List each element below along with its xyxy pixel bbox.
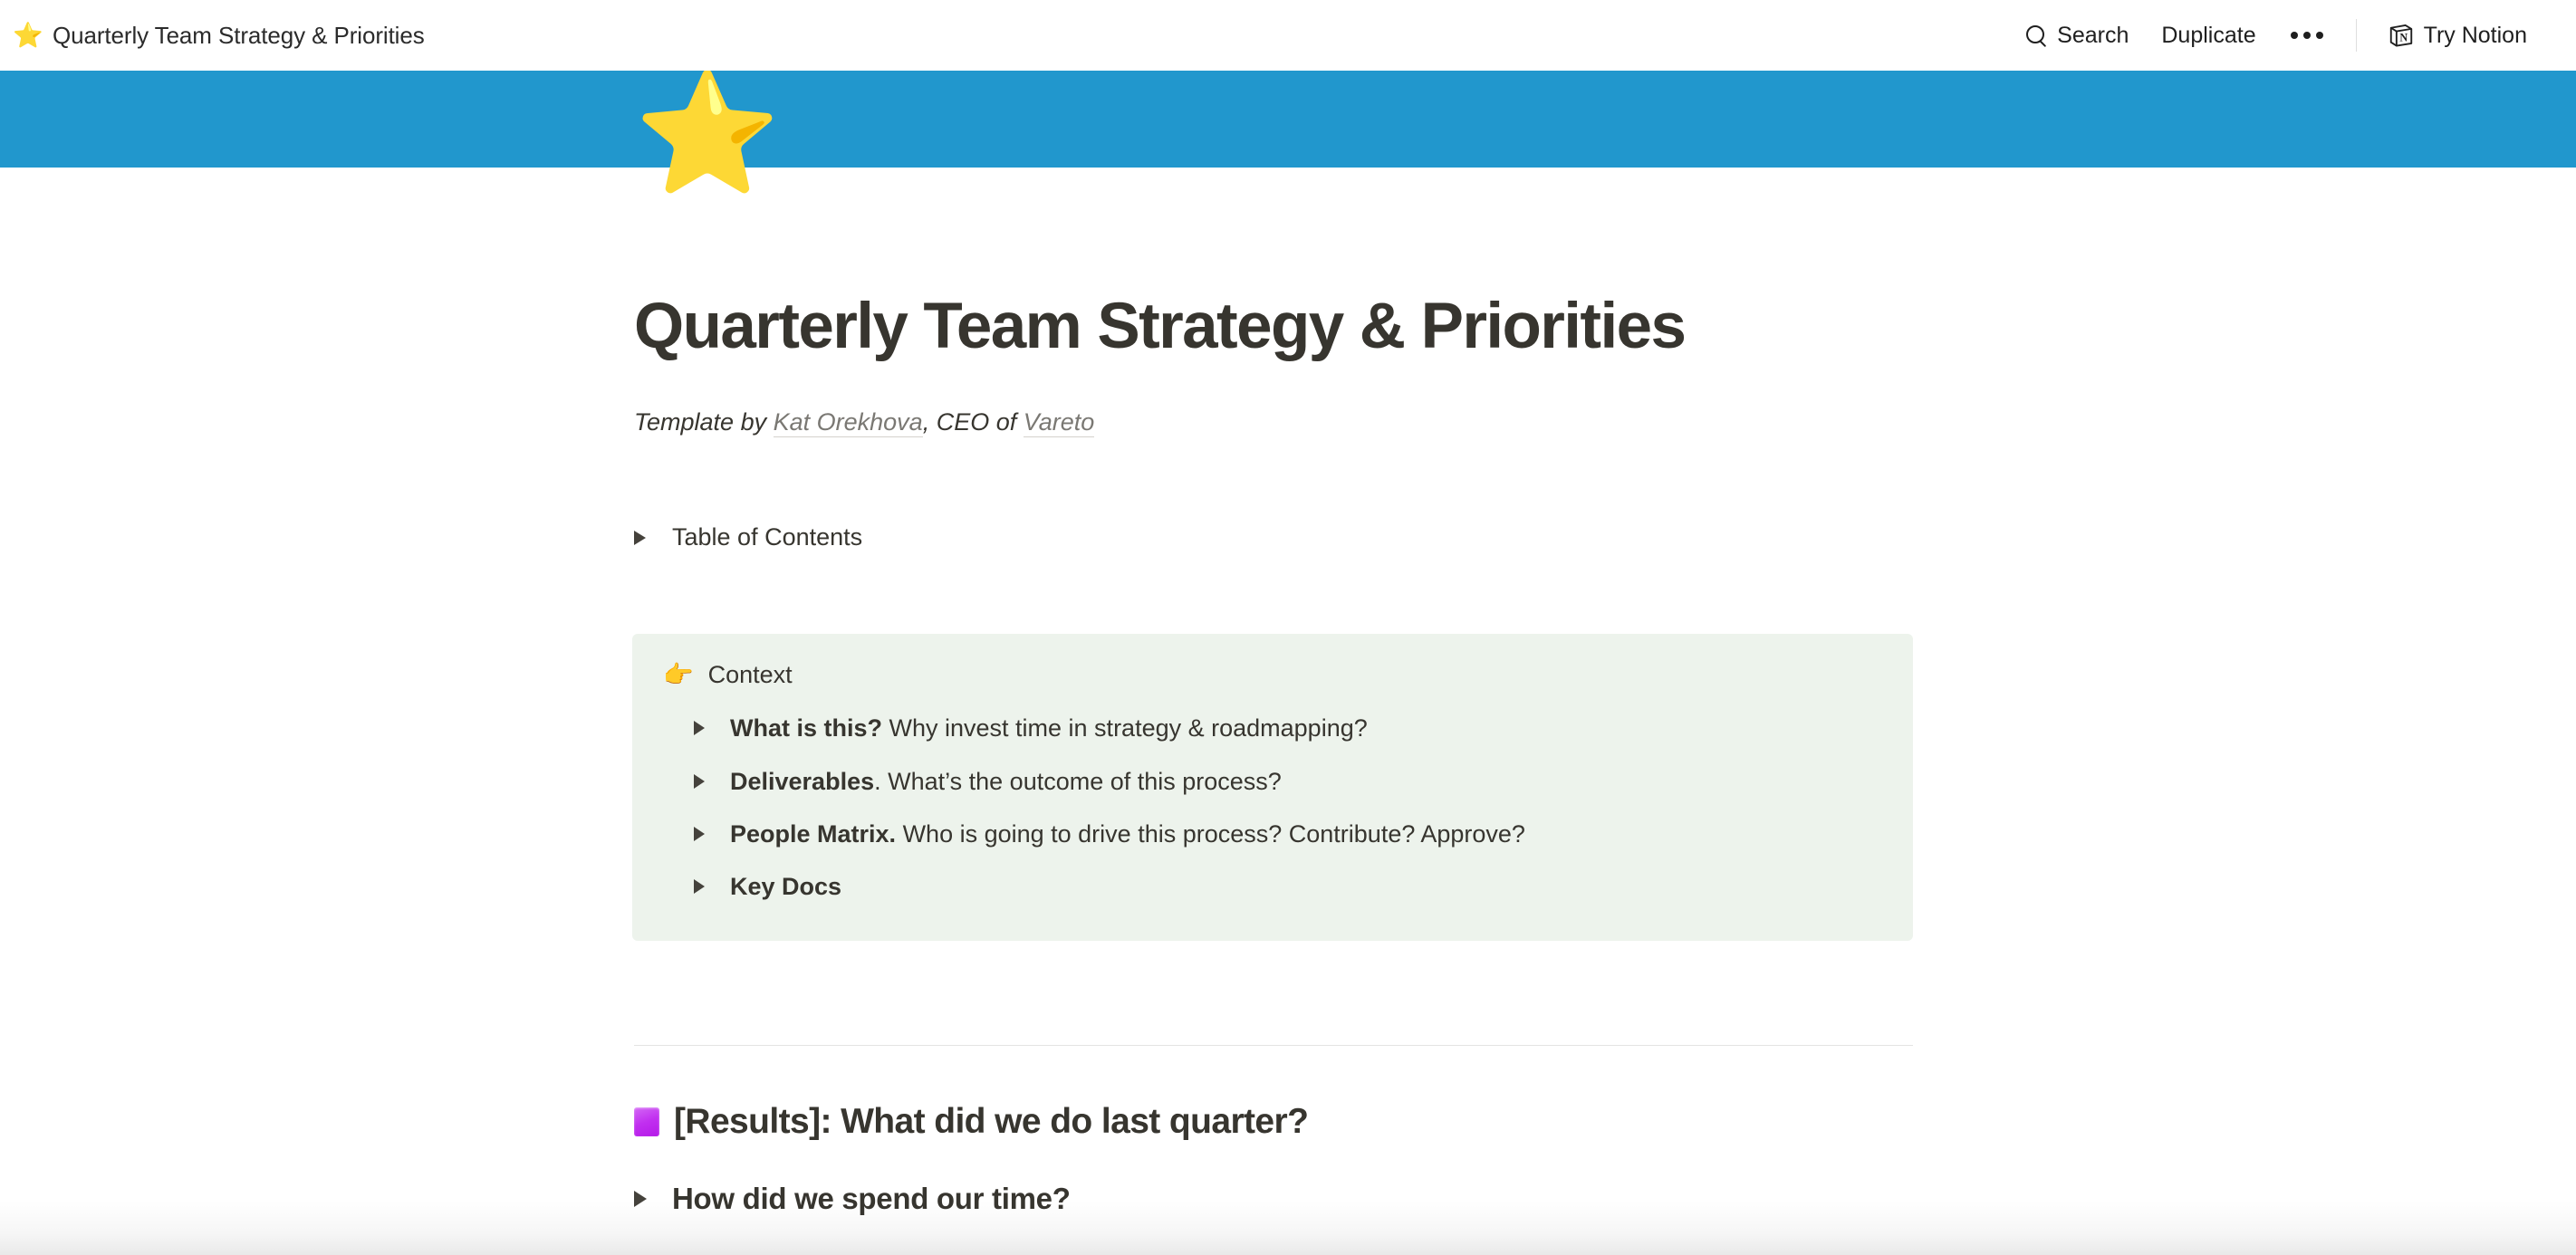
- search-button[interactable]: Search: [2009, 17, 2145, 54]
- chevron-right-icon-wrap: [694, 818, 730, 850]
- duplicate-button[interactable]: Duplicate: [2145, 17, 2272, 54]
- topbar-page-title: Quarterly Team Strategy & Priorities: [53, 22, 425, 50]
- dot-icon: [2316, 32, 2323, 39]
- topbar-right-group: Search Duplicate N Try Notion: [2009, 16, 2543, 54]
- spend-time-toggle-heading[interactable]: How did we spend our time?: [634, 1182, 1913, 1216]
- topbar-left-group: ⭐ Quarterly Team Strategy & Priorities: [13, 22, 425, 50]
- toggle-item-label: People Matrix. Who is going to drive thi…: [730, 818, 1525, 850]
- nav-divider: [2356, 19, 2357, 52]
- callout-title: Context: [708, 659, 793, 691]
- section-divider: [634, 1045, 1913, 1046]
- toggle-item-bold: Deliverables: [730, 768, 874, 795]
- toggle-item-rest: Who is going to drive this process? Cont…: [896, 820, 1525, 848]
- callout-header: 👉 Context: [632, 659, 1913, 691]
- chevron-right-icon-wrap: [634, 1191, 672, 1207]
- toggle-item-people-matrix[interactable]: People Matrix. Who is going to drive thi…: [694, 808, 1882, 860]
- purple-square-icon: [634, 1107, 659, 1136]
- context-callout: 👉 Context What is this? Why invest time …: [632, 634, 1913, 941]
- chevron-right-icon: [694, 721, 705, 735]
- table-of-contents-label: Table of Contents: [672, 523, 862, 551]
- toggle-item-deliverables[interactable]: Deliverables. What’s the outcome of this…: [694, 755, 1882, 808]
- more-options-button[interactable]: [2273, 23, 2341, 48]
- toggle-item-bold: What is this?: [730, 714, 882, 742]
- toggle-item-key-docs[interactable]: Key Docs: [694, 860, 1882, 913]
- table-of-contents-toggle[interactable]: Table of Contents: [634, 523, 1913, 551]
- duplicate-button-label: Duplicate: [2161, 23, 2255, 49]
- chevron-right-icon-wrap: [634, 531, 672, 545]
- toggle-item-what-is-this[interactable]: What is this? Why invest time in strateg…: [694, 702, 1882, 754]
- chevron-right-icon: [634, 531, 646, 545]
- byline-company-link[interactable]: Vareto: [1024, 408, 1095, 437]
- pointing-right-icon: 👉: [663, 659, 694, 691]
- chevron-right-icon: [694, 774, 705, 789]
- byline-author-link[interactable]: Kat Orekhova: [774, 408, 923, 437]
- chevron-right-icon: [694, 827, 705, 841]
- results-heading-text: [Results]: What did we do last quarter?: [674, 1101, 1308, 1144]
- page-byline: Template by Kat Orekhova, CEO of Vareto: [634, 406, 1913, 440]
- toggle-item-bold: People Matrix.: [730, 820, 896, 848]
- top-navigation-bar: ⭐ Quarterly Team Strategy & Priorities S…: [0, 0, 2576, 71]
- dot-icon: [2291, 32, 2298, 39]
- page-body: ⭐ Quarterly Team Strategy & Priorities T…: [0, 0, 2576, 1255]
- svg-text:N: N: [2399, 32, 2408, 44]
- callout-toggle-list: What is this? Why invest time in strateg…: [632, 702, 1913, 914]
- star-icon: ⭐: [13, 24, 40, 48]
- chevron-right-icon-wrap: [694, 765, 730, 798]
- byline-prefix: Template by: [634, 408, 774, 436]
- toggle-item-bold: Key Docs: [730, 873, 841, 900]
- toggle-item-rest: . What’s the outcome of this process?: [874, 768, 1282, 795]
- byline-middle: , CEO of: [923, 408, 1024, 436]
- results-heading: [Results]: What did we do last quarter?: [634, 1101, 1913, 1144]
- notion-logo-icon: N: [2388, 22, 2415, 49]
- page-icon-star[interactable]: ⭐: [634, 74, 781, 192]
- toggle-item-label: Deliverables. What’s the outcome of this…: [730, 765, 1282, 798]
- try-notion-button[interactable]: N Try Notion: [2371, 16, 2543, 54]
- chevron-right-icon: [634, 1191, 647, 1207]
- try-notion-label: Try Notion: [2424, 23, 2527, 49]
- notion-page: ⭐ Quarterly Team Strategy & Priorities S…: [0, 0, 2576, 1255]
- spend-time-heading-text: How did we spend our time?: [672, 1182, 1071, 1216]
- search-icon: [2025, 24, 2048, 47]
- search-button-label: Search: [2057, 23, 2129, 49]
- chevron-right-icon: [694, 879, 705, 894]
- toggle-item-rest: Why invest time in strategy & roadmappin…: [882, 714, 1368, 742]
- toggle-item-label: Key Docs: [730, 870, 841, 903]
- toggle-item-label: What is this? Why invest time in strateg…: [730, 712, 1368, 744]
- dot-icon: [2303, 32, 2311, 39]
- page-title: Quarterly Team Strategy & Priorities: [634, 292, 1913, 362]
- chevron-right-icon-wrap: [694, 870, 730, 903]
- chevron-right-icon-wrap: [694, 712, 730, 744]
